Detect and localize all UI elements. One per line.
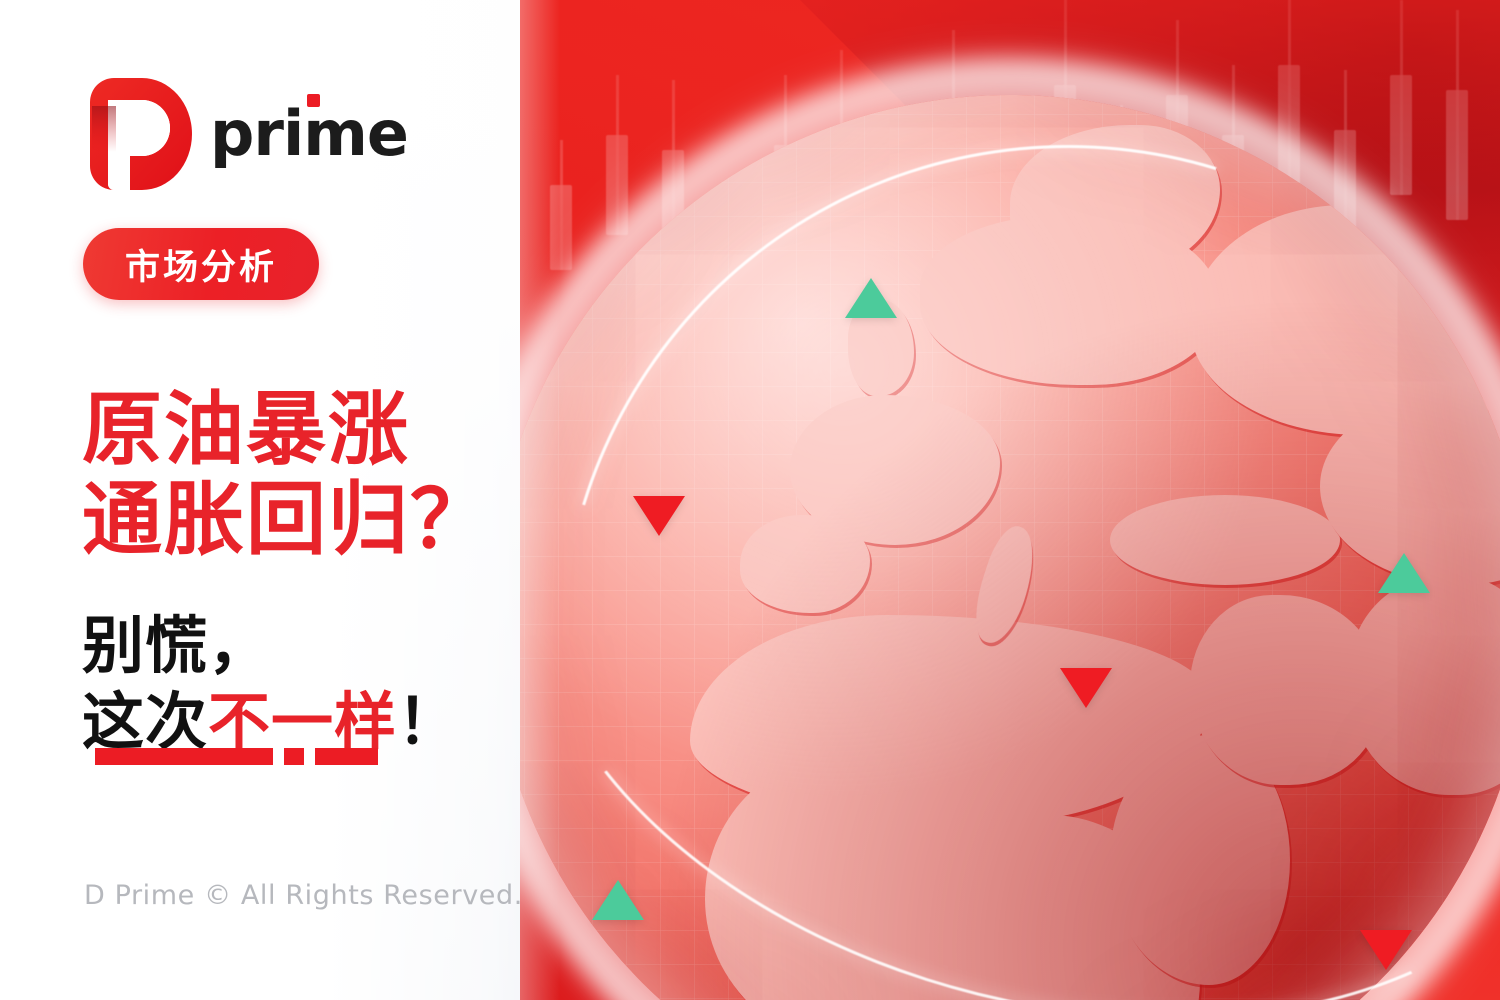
- marker-up-1: [845, 278, 897, 318]
- subheadline: 别慌， 这次不一样！: [82, 608, 552, 759]
- category-badge-label: 市场分析: [125, 239, 277, 290]
- d-prime-logo-icon: [80, 78, 192, 190]
- headline-line-1: 原油暴涨: [82, 385, 552, 475]
- subheadline-plain-a: 这次: [82, 685, 208, 758]
- subheadline-line-1: 别慌，: [82, 608, 552, 684]
- underline-segment-long: [95, 748, 273, 765]
- marker-down-3: [1360, 930, 1412, 970]
- marker-down-1: [633, 496, 685, 536]
- subheadline-underline: [95, 748, 378, 765]
- brand-logo[interactable]: prime: [80, 78, 408, 190]
- footer-copyright: D Prime © All Rights Reserved.: [84, 880, 523, 911]
- content-column: prime 市场分析 原油暴涨 通胀回归？ 别慌， 这次不一样！ D Prime…: [0, 0, 560, 1000]
- underline-segment-dot: [284, 748, 304, 765]
- marker-down-2: [1060, 668, 1112, 708]
- marker-up-2: [1378, 553, 1430, 593]
- subheadline-highlight: 不一样: [208, 685, 397, 758]
- headline-line-2: 通胀回归？: [82, 475, 552, 565]
- brand-wordmark: prime: [210, 103, 408, 165]
- underline-segment-mid: [315, 748, 378, 765]
- category-badge[interactable]: 市场分析: [83, 228, 319, 300]
- marker-up-3: [592, 880, 644, 920]
- headline: 原油暴涨 通胀回归？: [82, 385, 552, 564]
- subheadline-plain-b: ！: [397, 685, 460, 758]
- brand-wordmark-text: prime: [210, 97, 408, 170]
- brand-i-dot-icon: [307, 94, 320, 107]
- poster-canvas: prime 市场分析 原油暴涨 通胀回归？ 别慌， 这次不一样！ D Prime…: [0, 0, 1500, 1000]
